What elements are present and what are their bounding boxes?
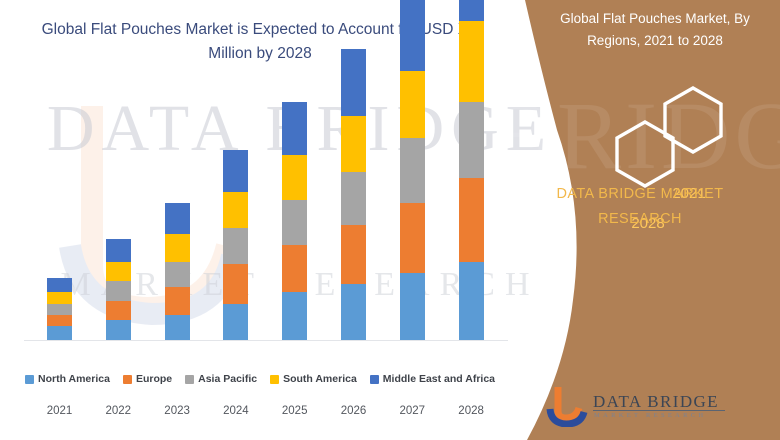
right-panel: Global Flat Pouches Market, By Regions, … — [495, 0, 780, 440]
legend-label: Europe — [136, 373, 172, 385]
segment-north-america-2028 — [459, 262, 484, 340]
segment-europe-2024 — [223, 264, 248, 303]
segment-europe-2023 — [165, 287, 190, 315]
segment-asia-pacific-2027 — [400, 138, 425, 202]
segment-north-america-2021 — [47, 326, 72, 340]
bar-2027 — [400, 0, 425, 340]
x-tick-2023: 2023 — [147, 405, 207, 417]
segment-europe-2027 — [400, 203, 425, 273]
panel-title: Global Flat Pouches Market, By Regions, … — [535, 8, 775, 51]
segment-asia-pacific-2023 — [165, 262, 190, 287]
x-tick-2025: 2025 — [265, 405, 325, 417]
segment-europe-2028 — [459, 178, 484, 262]
segment-north-america-2022 — [106, 320, 131, 340]
bar-2025 — [282, 102, 307, 340]
x-tick-2024: 2024 — [206, 405, 266, 417]
segment-asia-pacific-2028 — [459, 102, 484, 178]
x-tick-2021: 2021 — [30, 405, 90, 417]
legend-label: South America — [283, 373, 357, 385]
segment-south-america-2026 — [341, 116, 366, 172]
segment-middle-east-and-africa-2024 — [223, 150, 248, 192]
segment-south-america-2021 — [47, 292, 72, 303]
data-bridge-mark-icon — [545, 385, 589, 427]
segment-asia-pacific-2026 — [341, 172, 366, 225]
legend-swatch-icon — [370, 375, 379, 384]
bar-2022 — [106, 239, 131, 340]
panel-brand-line1: DATA BRIDGE MARKET — [515, 182, 765, 207]
x-tick-2028: 2028 — [441, 405, 501, 417]
legend-label: Asia Pacific — [198, 373, 257, 385]
data-bridge-logo: DATA BRIDGE MARKET RESEARCH — [545, 385, 735, 429]
logo-wordmark: DATA BRIDGE — [593, 392, 719, 412]
segment-asia-pacific-2024 — [223, 228, 248, 264]
logo-subword: MARKET RESEARCH — [594, 412, 706, 419]
bar-2028 — [459, 0, 484, 340]
x-tick-2022: 2022 — [88, 405, 148, 417]
segment-south-america-2025 — [282, 155, 307, 200]
chart-x-axis: 20212022202320242025202620272028 — [0, 405, 520, 425]
hexagon-group: 2021 2028 — [573, 82, 733, 192]
segment-middle-east-and-africa-2022 — [106, 239, 131, 261]
bar-2023 — [165, 203, 190, 340]
segment-asia-pacific-2022 — [106, 281, 131, 301]
legend-swatch-icon — [25, 375, 34, 384]
segment-north-america-2023 — [165, 315, 190, 340]
stacked-bar-chart: 20212022202320242025202620272028 — [0, 60, 520, 342]
segment-middle-east-and-africa-2025 — [282, 102, 307, 155]
segment-north-america-2027 — [400, 273, 425, 340]
legend-swatch-icon — [270, 375, 279, 384]
segment-europe-2021 — [47, 315, 72, 326]
segment-south-america-2028 — [459, 21, 484, 102]
segment-middle-east-and-africa-2026 — [341, 49, 366, 116]
chart-plot-area — [0, 60, 520, 340]
segment-north-america-2025 — [282, 292, 307, 340]
legend-item-europe[interactable]: Europe — [123, 373, 172, 385]
segment-europe-2026 — [341, 225, 366, 284]
hex-2028-shape — [617, 122, 673, 186]
segment-south-america-2023 — [165, 234, 190, 262]
panel-brand-line2: RESEARCH — [515, 207, 765, 232]
segment-south-america-2027 — [400, 71, 425, 138]
legend-swatch-icon — [185, 375, 194, 384]
logo-rule — [593, 410, 725, 411]
segment-middle-east-and-africa-2023 — [165, 203, 190, 234]
infographic-canvas: DATA BRIDGE MARKET RESEARCH Global Flat … — [0, 0, 780, 440]
legend-label: Middle East and Africa — [383, 373, 495, 385]
segment-asia-pacific-2021 — [47, 304, 72, 315]
panel-brand: DATA BRIDGE MARKET RESEARCH — [515, 182, 765, 231]
segment-north-america-2026 — [341, 284, 366, 340]
bar-2021 — [47, 278, 72, 340]
x-tick-2027: 2027 — [382, 405, 442, 417]
segment-north-america-2024 — [223, 304, 248, 340]
legend-item-middle-east-and-africa[interactable]: Middle East and Africa — [370, 373, 495, 385]
segment-europe-2022 — [106, 301, 131, 321]
segment-south-america-2022 — [106, 262, 131, 282]
legend-item-south-america[interactable]: South America — [270, 373, 357, 385]
bar-2026 — [341, 49, 366, 340]
legend-item-asia-pacific[interactable]: Asia Pacific — [185, 373, 257, 385]
segment-asia-pacific-2025 — [282, 200, 307, 245]
legend-swatch-icon — [123, 375, 132, 384]
segment-middle-east-and-africa-2028 — [459, 0, 484, 21]
segment-europe-2025 — [282, 245, 307, 293]
segment-middle-east-and-africa-2027 — [400, 0, 425, 71]
chart-baseline — [24, 340, 508, 341]
segment-south-america-2024 — [223, 192, 248, 228]
bar-2024 — [223, 150, 248, 340]
x-tick-2026: 2026 — [324, 405, 384, 417]
legend-label: North America — [38, 373, 110, 385]
segment-middle-east-and-africa-2021 — [47, 278, 72, 292]
legend-item-north-america[interactable]: North America — [25, 373, 110, 385]
chart-legend: North AmericaEuropeAsia PacificSouth Ame… — [0, 373, 520, 385]
